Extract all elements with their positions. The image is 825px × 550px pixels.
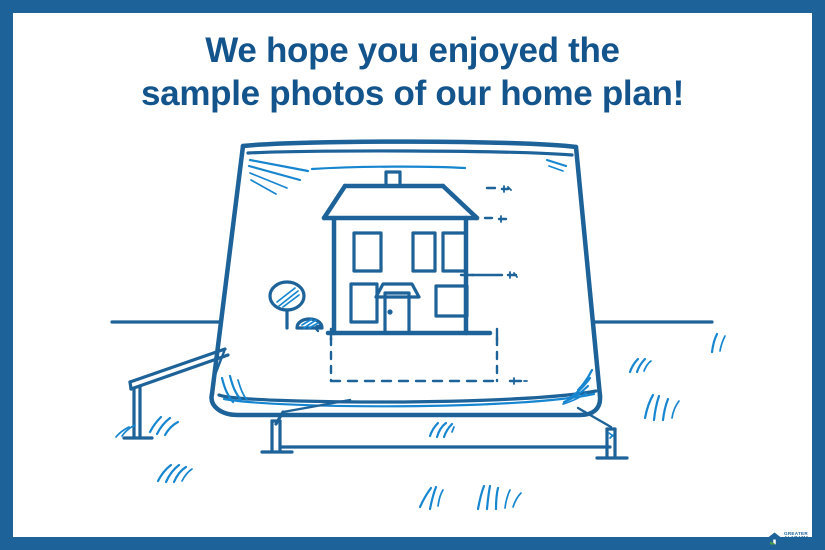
blueprint-sheet [211,141,600,416]
greater-alabama-mls-logo: GREATER ALABAMA MLS [767,531,809,546]
doorknob [387,309,392,314]
slide-canvas: .ink { fill:none; stroke:#1d6298; stroke… [0,0,825,550]
headline-line-2: sample photos of our home plan! [0,72,825,115]
page-title: We hope you enjoyed the sample photos of… [0,29,825,115]
logo-wordmark: GREATER ALABAMA MLS [784,532,809,546]
headline-line-1: We hope you enjoyed the [0,29,825,72]
house-logo-icon [767,531,782,546]
logo-line-3: MLS [784,541,809,546]
